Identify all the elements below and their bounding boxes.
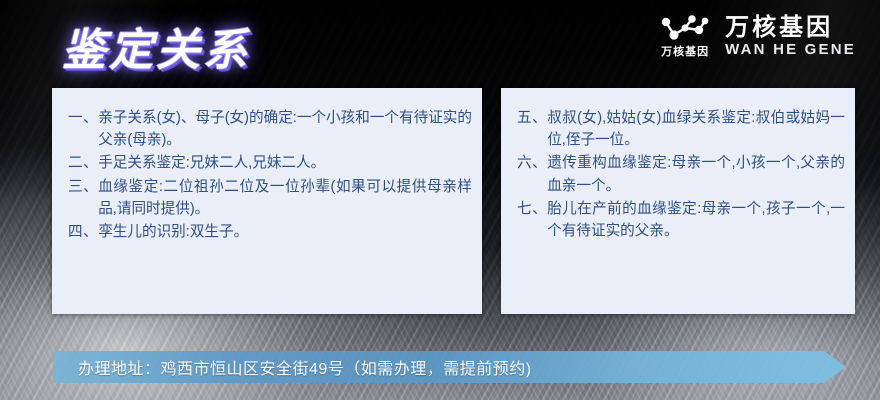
logo-mark: 万核基因 [659,14,711,58]
brand-name-en: WAN HE GENE [725,42,856,57]
list-item-number: 三、 [68,176,98,220]
brand-logo: 万核基因 万核基因 WAN HE GENE [659,14,856,58]
logo-wordmark: 万核基因 WAN HE GENE [725,15,856,57]
services-panel-right: 五、 叔叔(女),姑姑(女)血绿关系鉴定:叔伯或姑妈一位,侄子一位。 六、 遗传… [501,88,855,314]
list-item-text: 孪生儿的识别:双生子。 [98,221,472,243]
list-item-number: 七、 [517,198,547,242]
list-item: 六、 遗传重构血缘鉴定:母亲一个,小孩一个,父亲的血亲一个。 [517,152,845,196]
services-panel-left: 一、 亲子关系(女)、母子(女)的确定:一个小孩和一个有待证实的父亲(母亲)。 … [52,88,482,314]
list-item-text: 遗传重构血缘鉴定:母亲一个,小孩一个,父亲的血亲一个。 [547,152,845,196]
list-item-text: 胎儿在产前的血缘鉴定:母亲一个,孩子一个,一个有待证实的父亲。 [547,198,845,242]
address-text: 办理地址：鸡西市恒山区安全街49号（如需办理，需提前预约) [53,355,532,379]
list-item-number: 五、 [517,107,547,151]
list-item-number: 一、 [68,107,98,151]
list-item: 一、 亲子关系(女)、母子(女)的确定:一个小孩和一个有待证实的父亲(母亲)。 [68,107,472,151]
list-item: 四、 孪生儿的识别:双生子。 [68,221,472,243]
list-item-number: 二、 [68,152,98,174]
brand-name-cn: 万核基因 [725,15,856,40]
list-item-number: 四、 [68,221,98,243]
content-panels: 一、 亲子关系(女)、母子(女)的确定:一个小孩和一个有待证实的父亲(母亲)。 … [52,88,855,314]
list-item: 二、 手足关系鉴定:兄妹二人,兄妹二人。 [68,152,472,174]
list-item-text: 叔叔(女),姑姑(女)血绿关系鉴定:叔伯或姑妈一位,侄子一位。 [547,107,845,151]
molecule-nodes-icon [659,14,711,44]
list-item-number: 六、 [517,152,547,196]
list-item: 三、 血缘鉴定:二位祖孙二位及一位孙辈(如果可以提供母亲样品,请同时提供)。 [68,176,472,220]
logo-mark-label: 万核基因 [661,47,709,58]
list-item-text: 亲子关系(女)、母子(女)的确定:一个小孩和一个有待证实的父亲(母亲)。 [98,107,472,151]
list-item: 五、 叔叔(女),姑姑(女)血绿关系鉴定:叔伯或姑妈一位,侄子一位。 [517,107,845,151]
list-item: 七、 胎儿在产前的血缘鉴定:母亲一个,孩子一个,一个有待证实的父亲。 [517,198,845,242]
promo-poster: 鉴定关系 [0,0,880,400]
address-ribbon: 办理地址：鸡西市恒山区安全街49号（如需办理，需提前预约) [53,351,846,383]
page-title: 鉴定关系 [62,14,250,78]
list-item-text: 手足关系鉴定:兄妹二人,兄妹二人。 [98,152,472,174]
list-item-text: 血缘鉴定:二位祖孙二位及一位孙辈(如果可以提供母亲样品,请同时提供)。 [98,176,472,220]
